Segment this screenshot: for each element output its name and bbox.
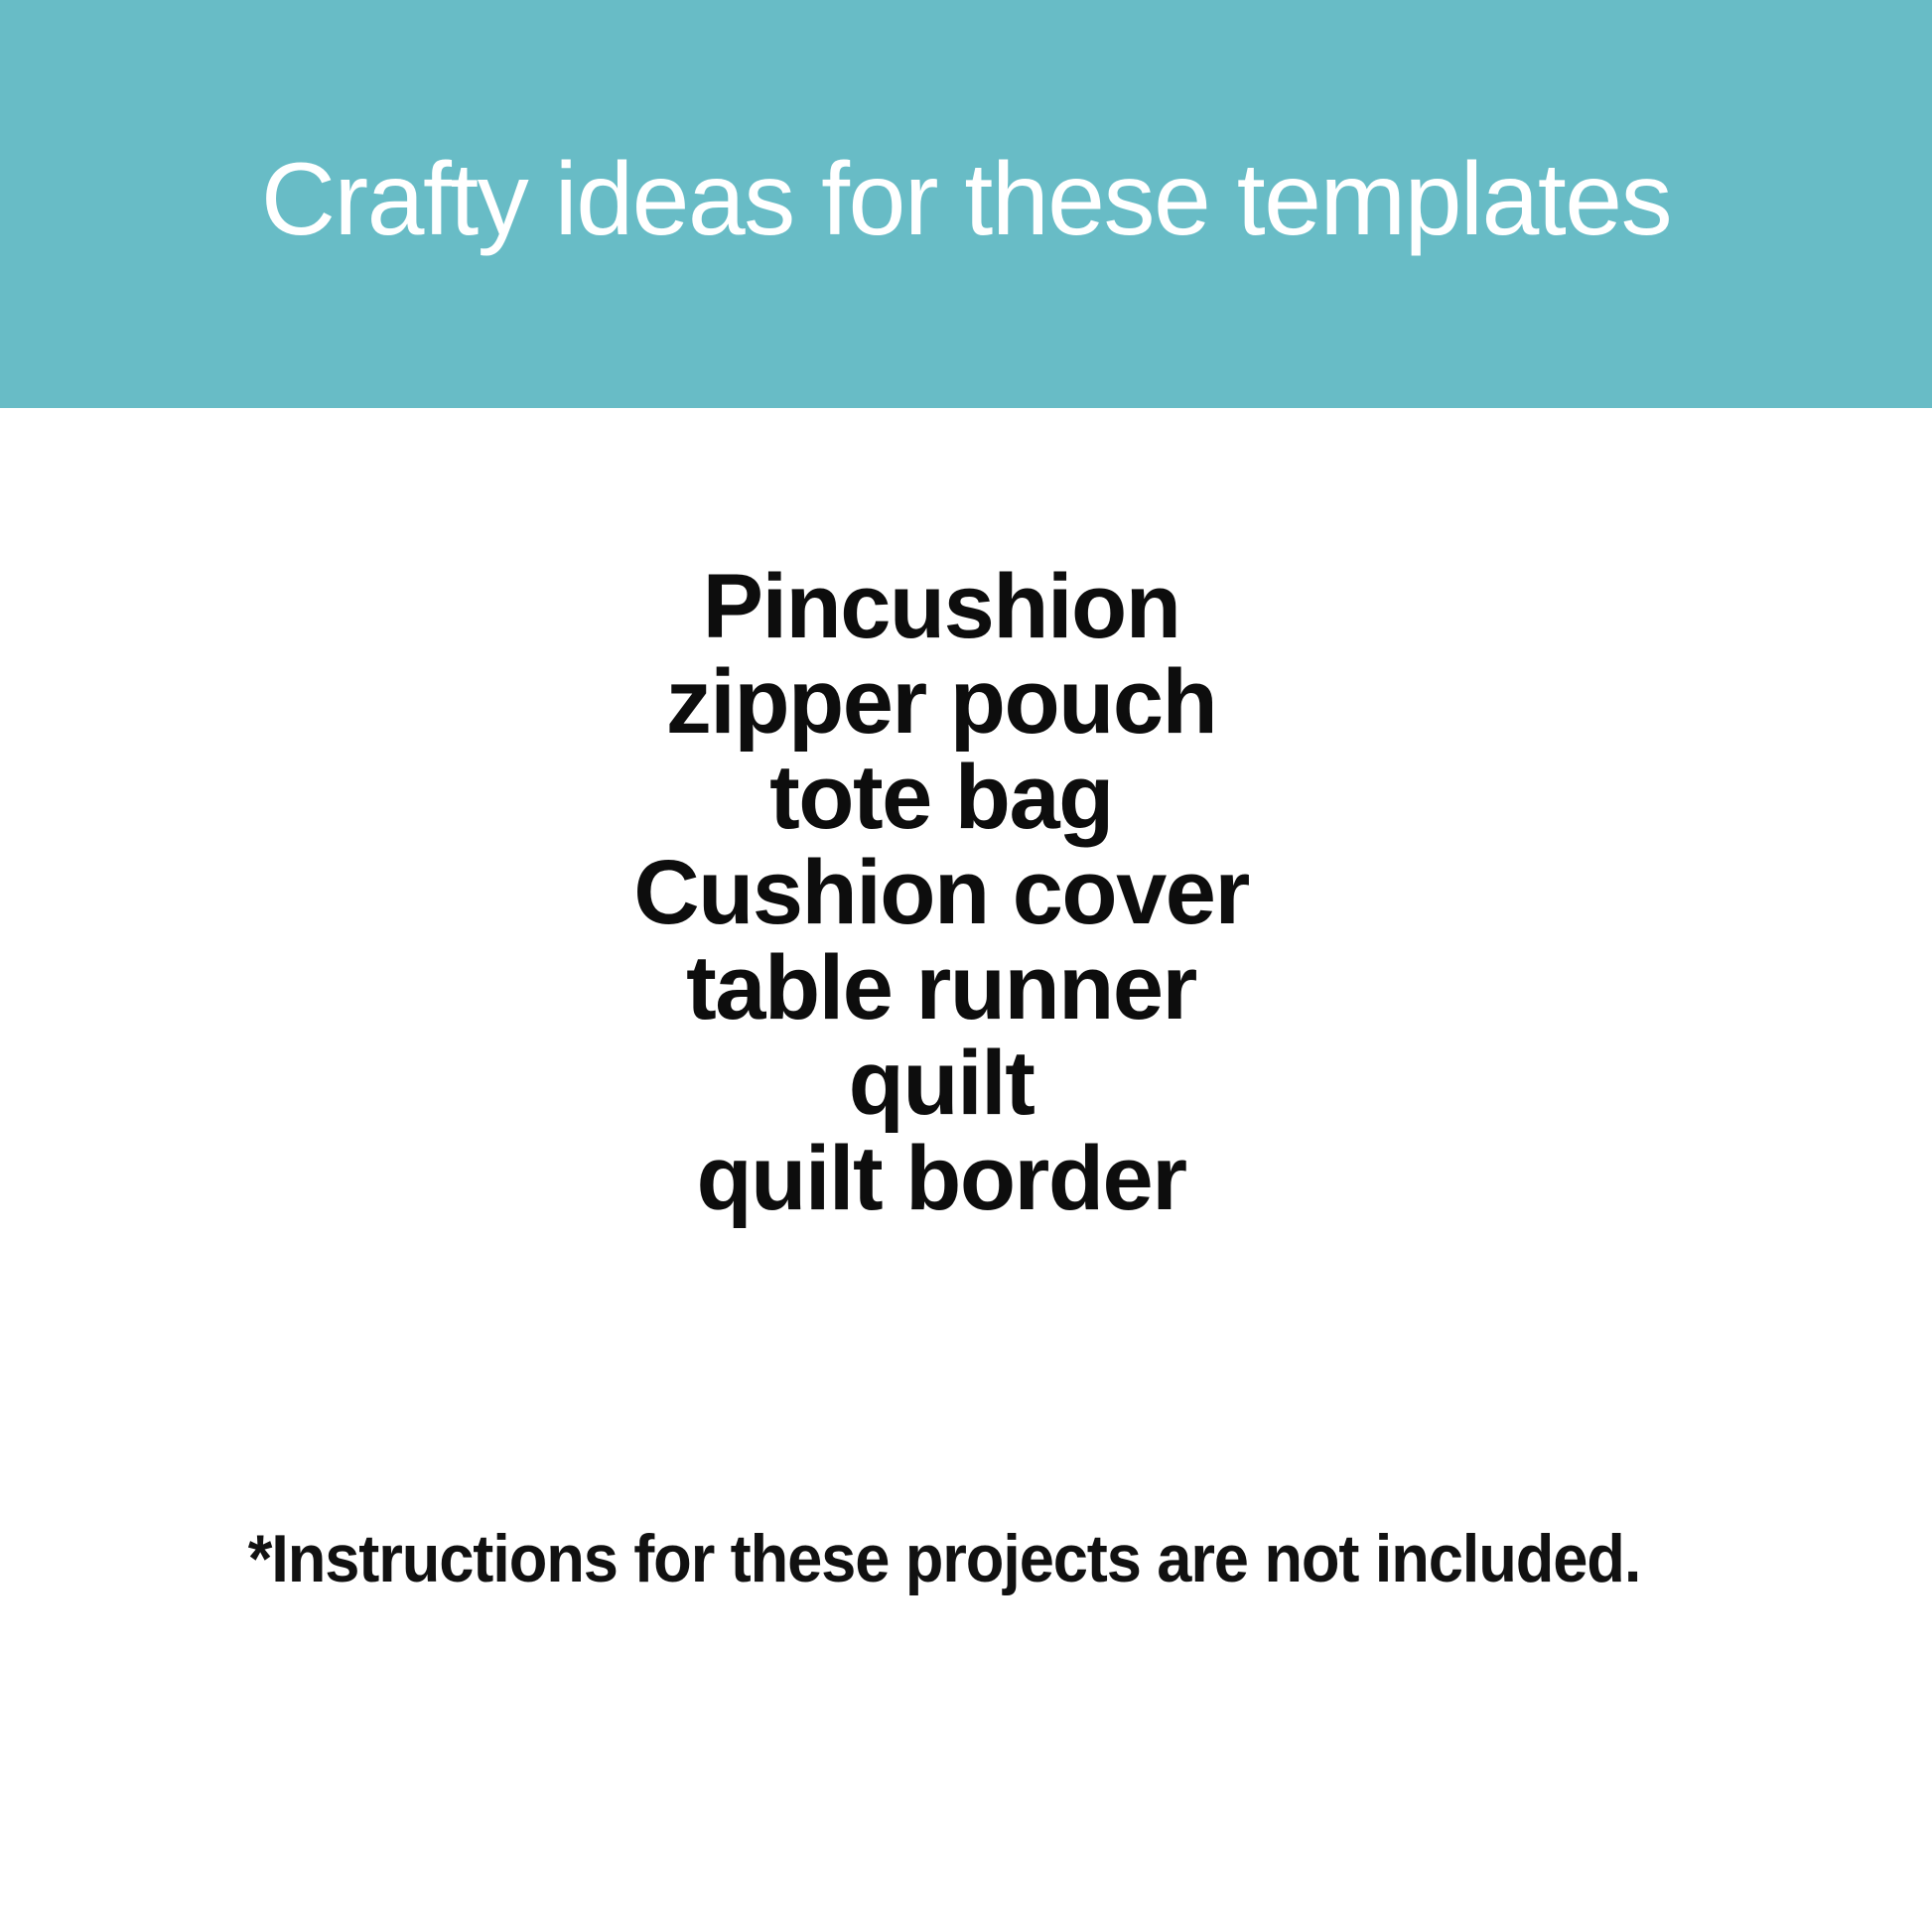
craft-ideas-list: Pincushion zipper pouch tote bag Cushion… [0, 559, 1932, 1226]
slide-canvas: Crafty ideas for these templates Pincush… [0, 0, 1932, 1932]
list-item: zipper pouch [0, 654, 1882, 750]
page-title: Crafty ideas for these templates [261, 143, 1671, 256]
header-banner: Crafty ideas for these templates [0, 0, 1932, 408]
footnote-row: *Instructions for these projects are not… [0, 1522, 1932, 1596]
list-item: quilt [0, 1035, 1882, 1131]
list-item: tote bag [0, 750, 1882, 845]
content-area: Pincushion zipper pouch tote bag Cushion… [0, 408, 1932, 1932]
list-item: Pincushion [0, 559, 1882, 654]
footnote-disclaimer: *Instructions for these projects are not… [248, 1522, 1640, 1596]
list-item: quilt border [0, 1131, 1882, 1226]
list-item: table runner [0, 940, 1882, 1035]
list-item: Cushion cover [0, 845, 1882, 940]
